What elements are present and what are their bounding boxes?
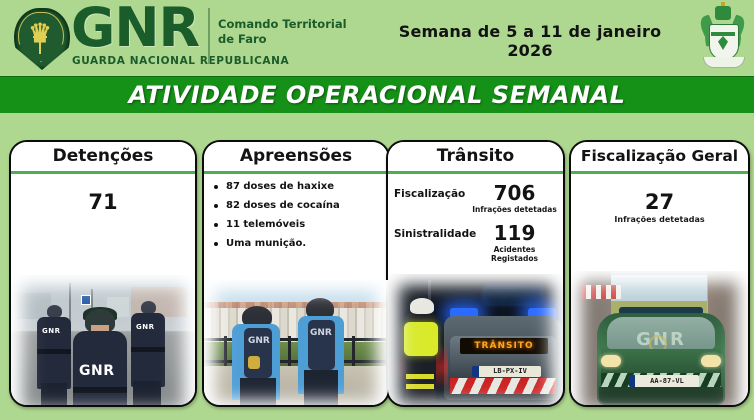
row-caption: Infrações detetadas bbox=[472, 205, 557, 214]
card-body: Fiscalização 706 Infrações detetadas Sin… bbox=[388, 183, 563, 407]
list-item: 11 telemóveis bbox=[226, 219, 388, 231]
two-gnr-officers-overlooking-town-photo: GNR GNR bbox=[204, 280, 388, 407]
transito-row-sinistralidade: Sinistralidade 119 Acidentes Registados bbox=[388, 223, 563, 263]
card-fiscalizacao-geral: Fiscalização Geral 27 Infrações detetada… bbox=[569, 140, 750, 407]
row-value: 119 bbox=[472, 223, 557, 244]
row-value: 706 bbox=[472, 183, 557, 204]
list-item: 87 doses de haxixe bbox=[226, 181, 388, 193]
card-title: Trânsito bbox=[388, 142, 563, 174]
card-transito: Trânsito Fiscalização 706 Infrações dete… bbox=[386, 140, 565, 407]
led-sign-text: TRÂNSITO bbox=[474, 341, 533, 351]
fiscalizacao-caption: Infrações detetadas bbox=[571, 215, 748, 224]
cards-container: Detenções 71 GNR GNR GNR bbox=[0, 140, 754, 405]
poster-root: ♛ GNR GUARDA NACIONAL REPUBLICANA Comand… bbox=[0, 0, 754, 420]
row-label: Fiscalização bbox=[394, 183, 472, 200]
card-body: 71 GNR GNR GNR bbox=[11, 190, 195, 407]
night-traffic-stop-patrol-car-photo: TRÂNSITO LB-PX-IV bbox=[388, 274, 563, 407]
gnr-green-patrol-car-front-photo: GNR AA-87-VL bbox=[571, 271, 748, 407]
brand-wordmark: GNR bbox=[71, 0, 199, 56]
header: ♛ GNR GUARDA NACIONAL REPUBLICANA Comand… bbox=[0, 0, 754, 76]
brand-subtitle: GUARDA NACIONAL REPUBLICANA bbox=[72, 55, 289, 67]
command-line-1: Comando Territorial bbox=[218, 17, 347, 31]
list-item: Uma munição. bbox=[226, 238, 388, 250]
main-banner: ATIVIDADE OPERACIONAL SEMANAL bbox=[0, 76, 754, 113]
header-divider bbox=[208, 8, 210, 64]
card-body: 87 doses de haxixe 82 doses de cocaína 1… bbox=[204, 181, 388, 407]
week-label: Semana de 5 a 11 de janeiro 2026 bbox=[380, 22, 680, 60]
faro-coat-of-arms-icon bbox=[699, 2, 747, 72]
three-gnr-officers-on-street-photo: GNR GNR GNR bbox=[11, 275, 195, 407]
detencoes-value: 71 bbox=[11, 190, 195, 214]
gnr-shield-crest-icon: ♛ bbox=[11, 6, 69, 68]
row-caption: Acidentes Registados bbox=[472, 245, 557, 263]
transito-row-fiscalizacao: Fiscalização 706 Infrações detetadas bbox=[388, 183, 563, 214]
card-apreensoes: Apreensões 87 doses de haxixe 82 doses d… bbox=[202, 140, 390, 407]
row-label: Sinistralidade bbox=[394, 223, 472, 240]
card-title: Fiscalização Geral bbox=[571, 142, 748, 174]
apreensoes-list: 87 doses de haxixe 82 doses de cocaína 1… bbox=[204, 181, 388, 250]
banner-title: ATIVIDADE OPERACIONAL SEMANAL bbox=[129, 81, 626, 109]
card-title: Apreensões bbox=[204, 142, 388, 174]
fiscalizacao-value: 27 bbox=[571, 190, 748, 214]
list-item: 82 doses de cocaína bbox=[226, 200, 388, 212]
plate-text: AA-87-VL bbox=[635, 375, 699, 387]
card-body: 27 Infrações detetadas GNR AA-87-VL bbox=[571, 190, 748, 407]
card-detencoes: Detenções 71 GNR GNR GNR bbox=[9, 140, 197, 407]
command-line-2: de Faro bbox=[218, 32, 267, 46]
card-title: Detenções bbox=[11, 142, 195, 174]
plate-text: LB-PX-IV bbox=[479, 366, 541, 377]
